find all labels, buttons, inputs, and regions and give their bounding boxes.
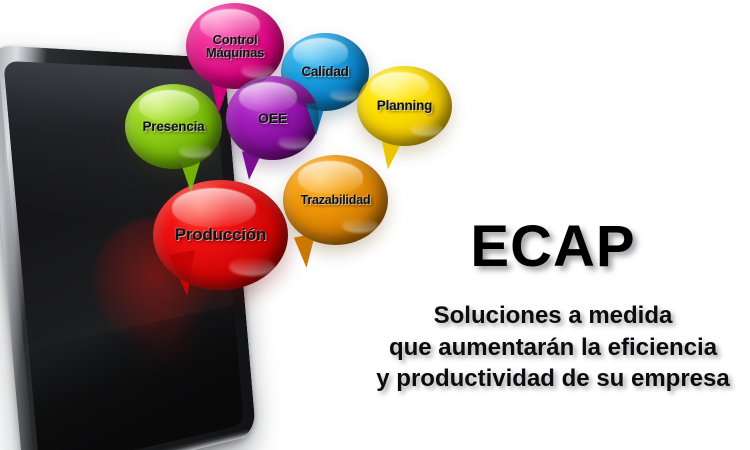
poster-canvas: Presencia Control Máquinas Calidad OEE P… — [0, 0, 750, 450]
speech-bubble-presencia[interactable]: Presencia — [125, 84, 222, 169]
bubble-gloss-highlight — [293, 38, 348, 66]
bubble-gloss-highlight — [139, 90, 199, 121]
bubble-gloss-lower — [342, 218, 378, 233]
speech-bubble-planning[interactable]: Planning — [357, 66, 452, 146]
brand-title: ECAP — [358, 218, 748, 276]
bubble-gloss-lower — [241, 63, 274, 78]
bubble-gloss-lower — [278, 135, 310, 149]
bubble-gloss-highlight — [370, 72, 429, 101]
bubble-gloss-lower — [410, 122, 442, 136]
bubble-gloss-highlight — [298, 161, 363, 193]
speech-bubble-produccion[interactable]: Producción — [153, 180, 288, 290]
bubble-gloss-highlight — [200, 9, 261, 40]
bubble-gloss-lower — [179, 144, 212, 158]
speech-bubble-trazabilidad[interactable]: Trazabilidad — [283, 155, 388, 245]
tagline-line-1: Soluciones a medida — [358, 300, 748, 332]
tagline-line-3: y productividad de su empresa — [358, 363, 748, 395]
bubble-gloss-lower — [330, 88, 360, 101]
speech-bubble-oee[interactable]: OEE — [226, 76, 319, 160]
bubble-gloss-highlight — [172, 188, 256, 228]
bubble-gloss-lower — [229, 257, 275, 276]
brand-tagline: Soluciones a medida que aumentarán la ef… — [358, 300, 748, 395]
brand-block: ECAP Soluciones a medida que aumentarán … — [358, 218, 748, 395]
tagline-line-2: que aumentarán la eficiencia — [358, 332, 748, 364]
bubble-gloss-highlight — [239, 82, 297, 112]
